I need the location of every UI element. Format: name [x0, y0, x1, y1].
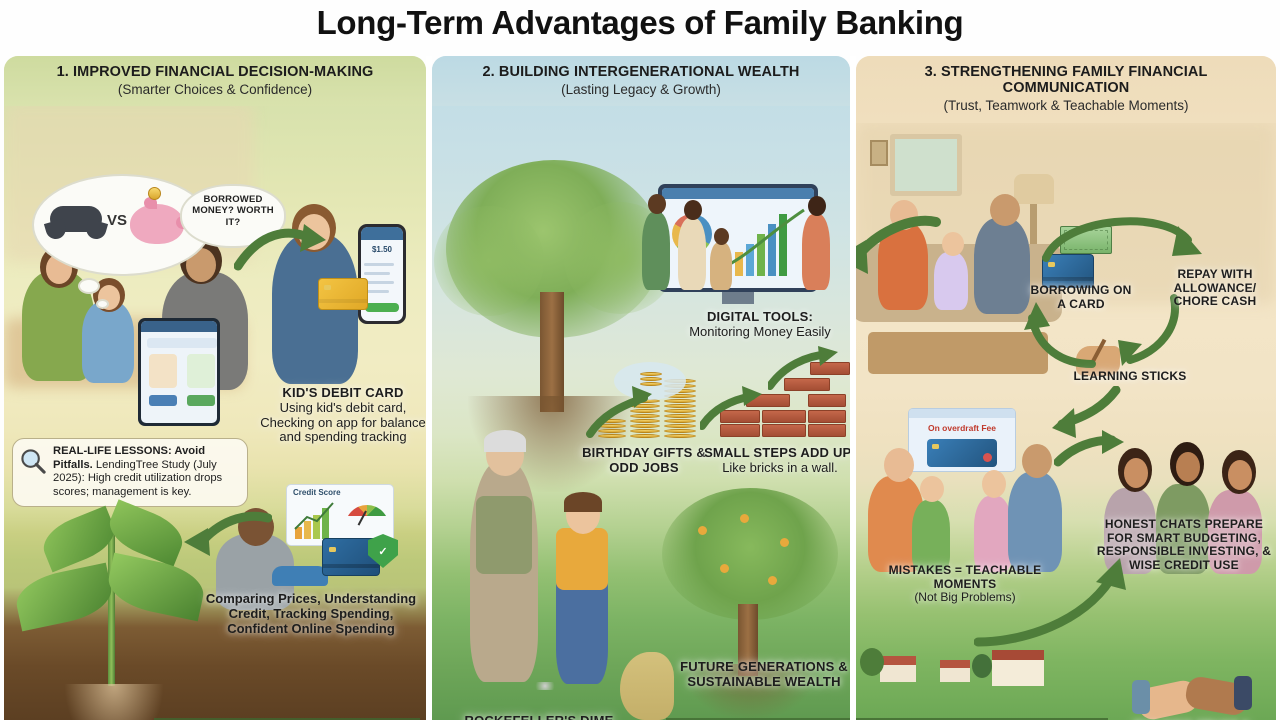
brick-step-1b	[720, 424, 760, 437]
wealth-family-adult-1	[642, 212, 670, 290]
teen-face	[298, 214, 330, 250]
brick-step-1	[720, 410, 760, 423]
overdraft-window-titlebar	[909, 409, 1015, 418]
handshake-cuff-left	[1132, 680, 1150, 714]
column-2-header: 2. BUILDING INTERGENERATIONAL WEALTH (La…	[432, 56, 850, 106]
teachable-daughter-head	[982, 470, 1006, 498]
teachable-son-head	[920, 476, 944, 502]
coffee-table	[868, 332, 1048, 374]
column-building-intergenerational-wealth: DIGITAL TOOLS: Monitoring Money Easily	[432, 56, 850, 720]
page-title: Long-Term Advantages of Family Banking	[0, 4, 1280, 42]
teachable-father	[1008, 472, 1062, 572]
phone-action-button[interactable]	[365, 303, 399, 312]
dimes-on-ground	[532, 682, 558, 690]
village-house-1	[880, 656, 916, 682]
rockefeller-dime-label: ROCKEFELLER'S DIME LESSONS: Saving a bit…	[454, 714, 624, 720]
teachable-son	[912, 500, 950, 572]
wealth-family-adult-2	[678, 218, 706, 290]
cash-icon[interactable]	[1060, 226, 1112, 254]
toddler-on-sofa	[934, 252, 968, 310]
brick-step-3	[784, 378, 830, 391]
credit-score-gauge	[345, 505, 389, 527]
fruit-dot-2	[740, 514, 749, 523]
overdraft-card-thumb	[927, 439, 997, 467]
fruit-dot-3	[780, 538, 789, 547]
father-on-sofa-head	[990, 194, 1020, 226]
infographic-poster: Long-Term Advantages of Family Banking	[0, 0, 1280, 720]
teachable-daughter	[974, 496, 1012, 572]
column-2-title: 2. BUILDING INTERGENERATIONAL WEALTH	[444, 64, 838, 80]
grandchild-shirt	[556, 528, 608, 590]
overdraft-notice-window: On overdraft Fee	[908, 408, 1016, 472]
versus-label: VS	[107, 212, 127, 229]
magnifier-icon	[20, 448, 47, 475]
column-1-header: 1. IMPROVED FINANCIAL DECISION-MAKING (S…	[4, 56, 426, 106]
mother-on-sofa	[878, 222, 928, 310]
borrowing-on-card-node: BORROWING ON A CARD	[1026, 284, 1136, 311]
brick-step-4	[810, 362, 850, 375]
handshake-cuff-right	[1234, 676, 1252, 710]
father-on-sofa	[974, 218, 1030, 314]
column-strengthening-family-communication: BORROWING ON A CARD REPAY WITH ALLOWANCE…	[856, 56, 1276, 720]
coin-stack-small	[598, 418, 626, 438]
small-steps-label: SMALL STEPS ADD UP: Like bricks in a wal…	[700, 446, 850, 476]
brick-step-2c	[762, 424, 806, 437]
column-3-subtitle: (Trust, Teamwork & Teachable Moments)	[868, 98, 1264, 113]
wealth-family-child	[710, 242, 732, 290]
seedling-stem	[108, 526, 115, 686]
coin-stack-medium	[630, 394, 660, 438]
winding-path	[620, 652, 674, 720]
fruit-dot-1	[698, 526, 707, 535]
wealth-family-child-head	[714, 228, 729, 245]
phone-balance-amount: $1.50	[361, 245, 403, 254]
wealth-family-adult-1-head	[648, 194, 666, 214]
column-1-title: 1. IMPROVED FINANCIAL DECISION-MAKING	[16, 64, 414, 80]
car-icon	[272, 566, 328, 586]
column-3-title: 3. STRENGTHENING FAMILY FINANCIAL COMMUN…	[868, 64, 1264, 96]
family-tree-canopy-left	[434, 206, 544, 316]
brick-step-2	[746, 394, 790, 407]
village-tree-2	[972, 654, 992, 678]
wall-picture	[870, 140, 888, 166]
overdraft-notice-text: On overdraft Fee	[909, 423, 1015, 433]
mother-on-sofa-head	[890, 200, 918, 230]
grandfather-hair	[484, 430, 526, 452]
future-generations-label: FUTURE GENERATIONS & SUSTAINABLE WEALTH	[678, 660, 850, 690]
family-tree-trunk	[540, 292, 564, 412]
column-2-subtitle: (Lasting Legacy & Growth)	[444, 82, 838, 97]
teachable-mother-head	[884, 448, 914, 482]
phone-app-topbar	[361, 227, 403, 240]
learning-sticks-node: LEARNING STICKS	[1060, 370, 1200, 384]
tablet-screen	[141, 321, 217, 423]
brick-step-3c	[808, 410, 846, 423]
window-frame	[890, 134, 962, 196]
wealth-family-adult-2-head	[684, 200, 702, 220]
coin-into-piggy-icon	[148, 187, 161, 200]
brick-step-3d	[808, 424, 846, 437]
mistakes-teachable-label: MISTAKES = TEACHABLE MOMENTS (Not Big Pr…	[870, 564, 1060, 605]
village-house-3	[992, 650, 1044, 686]
thought-bubble-dot-small	[96, 299, 109, 309]
honest-chats-person-2-face	[1176, 452, 1200, 482]
village-tree-1	[860, 648, 884, 676]
credit-score-title: Credit Score	[293, 488, 341, 497]
honest-chats-person-1-face	[1124, 458, 1148, 488]
child-figure	[82, 301, 134, 383]
fruit-tree-canopy	[662, 488, 838, 620]
column-1-subtitle: (Smarter Choices & Confidence)	[16, 82, 414, 97]
seedling-roots	[64, 684, 164, 720]
village-house-2	[940, 660, 970, 682]
brick-step-2b	[762, 410, 806, 423]
real-life-lessons-callout: REAL-LIFE LESSONS: Avoid Pitfalls. Lendi…	[12, 438, 248, 507]
grandchild-hair	[564, 492, 602, 512]
grandfather-vest	[476, 496, 532, 574]
column-improved-financial-decision-making: VS BORROWED MONEY? WORTH IT? $1.50	[4, 56, 426, 720]
toddler-head	[942, 232, 964, 256]
teachable-father-head	[1022, 444, 1052, 478]
cloud-coin-stack	[640, 370, 662, 386]
kids-debit-card-label: KID'S DEBIT CARD Using kid's debit card,…	[260, 386, 426, 445]
birthday-gifts-label: BIRTHDAY GIFTS & ODD JOBS	[574, 446, 714, 476]
thought-bubble-dot-large	[78, 278, 100, 294]
fruit-dot-4	[720, 564, 729, 573]
worth-it-text: BORROWED MONEY? WORTH IT?	[186, 194, 280, 228]
digital-tools-label: DIGITAL TOOLS: Monitoring Money Easily	[670, 310, 850, 340]
brick-step-3b	[808, 394, 846, 407]
honest-chats-label: HONEST CHATS PREPARE FOR SMART BUDGETING…	[1096, 518, 1272, 573]
kids-debit-card[interactable]	[318, 278, 368, 310]
adult-shopper-head	[238, 508, 274, 546]
column-3-header: 3. STRENGTHENING FAMILY FINANCIAL COMMUN…	[856, 56, 1276, 123]
floor-lamp	[1014, 174, 1054, 204]
monitor-stand	[722, 292, 754, 304]
repay-allowance-node: REPAY WITH ALLOWANCE/ CHORE CASH	[1158, 268, 1272, 309]
wealth-family-adult-3	[802, 214, 830, 290]
family-banking-tablet[interactable]	[138, 318, 220, 426]
tablet-app-header	[141, 321, 217, 332]
honest-chats-person-3-face	[1228, 460, 1252, 490]
wealth-family-adult-3-head	[808, 196, 826, 216]
fruit-dot-5	[768, 576, 777, 585]
comparing-prices-label: Comparing Prices, Understanding Credit, …	[200, 592, 422, 636]
